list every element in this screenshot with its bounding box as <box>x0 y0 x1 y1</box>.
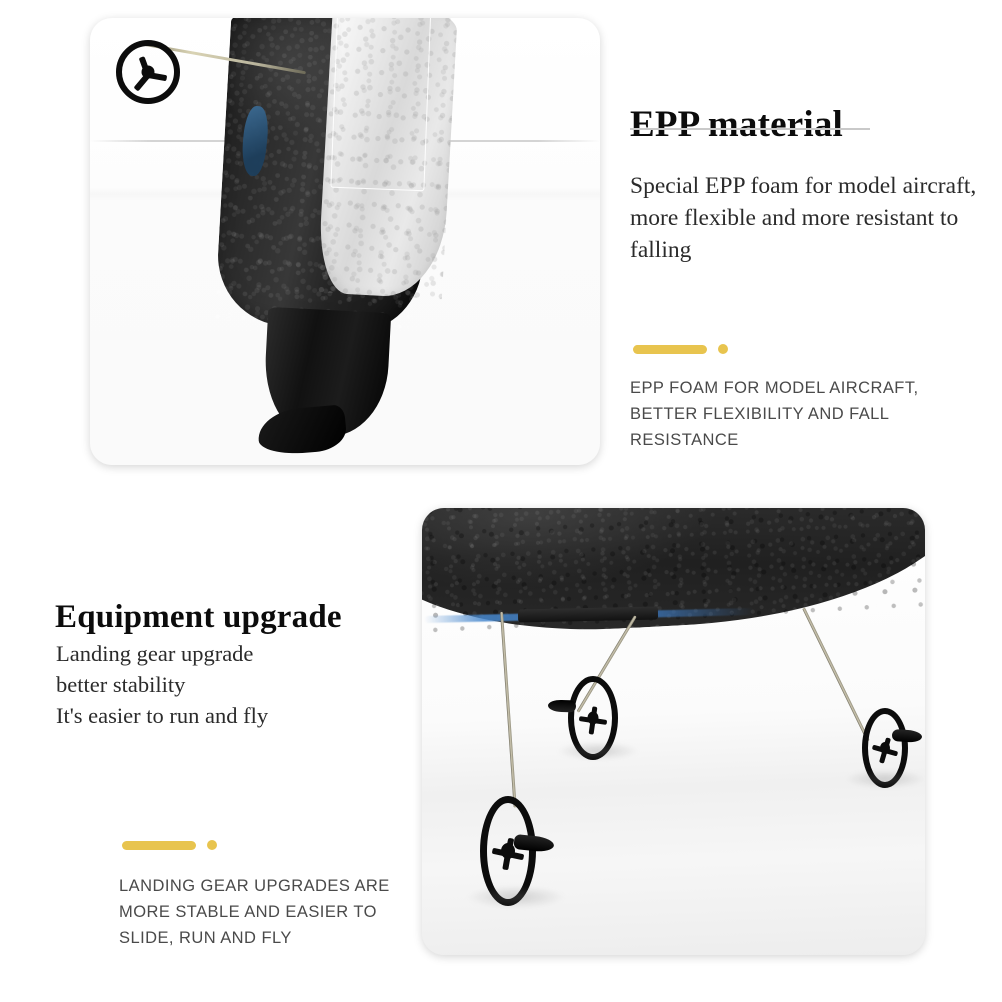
equipment-upgrade-caption: LANDING GEAR UPGRADES ARE MORE STABLE AN… <box>119 873 419 951</box>
equipment-accent-marker <box>122 840 217 850</box>
caption-line: MORE STABLE AND EASIER TO <box>119 899 419 925</box>
caption-line: EPP FOAM FOR MODEL AIRCRAFT, <box>630 375 965 401</box>
equipment-upgrade-photo <box>422 508 925 955</box>
mid-wheel-shadow <box>558 742 638 760</box>
description-line: It's easier to run and fly <box>56 700 386 731</box>
epp-material-caption: EPP FOAM FOR MODEL AIRCRAFT, BETTER FLEX… <box>630 375 965 453</box>
rear-wheel-shadow <box>846 770 924 788</box>
equipment-upgrade-description: Landing gear upgrade better stability It… <box>56 638 386 731</box>
caption-line: BETTER FLEXIBILITY AND FALL <box>630 401 965 427</box>
caption-line: SLIDE, RUN AND FLY <box>119 925 419 951</box>
accent-dot <box>718 344 728 354</box>
description-line: better stability <box>56 669 386 700</box>
epp-material-heading: EPP material <box>630 103 843 146</box>
equipment-upgrade-photo-inner <box>422 508 925 955</box>
wheel-hub <box>588 712 599 725</box>
front-wheel-shadow <box>468 886 564 908</box>
epp-accent-marker <box>633 344 728 354</box>
accent-bar <box>633 345 707 354</box>
description-line: Landing gear upgrade <box>56 638 386 669</box>
epp-material-photo <box>90 18 600 465</box>
landing-wheel-icon <box>116 40 180 104</box>
silver-panel-seam <box>330 18 431 191</box>
epp-material-photo-inner <box>90 18 600 465</box>
epp-heading-divider <box>630 128 870 130</box>
epp-material-description: Special EPP foam for model aircraft, mor… <box>630 170 980 266</box>
wheel-hub <box>142 66 155 79</box>
wheel-hub <box>501 843 515 859</box>
fuselage-silver-epp-panel <box>317 18 458 299</box>
accent-bar <box>122 841 196 850</box>
caption-line: RESISTANCE <box>630 427 965 453</box>
caption-line: LANDING GEAR UPGRADES ARE <box>119 873 419 899</box>
wheel-hub <box>880 742 890 754</box>
accent-dot <box>207 840 217 850</box>
equipment-upgrade-heading: Equipment upgrade <box>55 599 342 636</box>
